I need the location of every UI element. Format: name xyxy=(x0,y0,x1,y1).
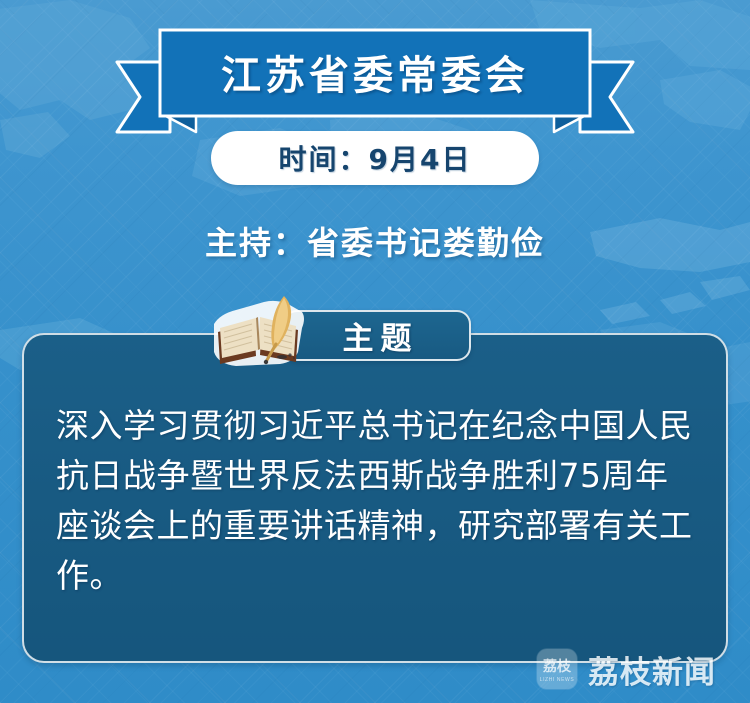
meeting-host-label: 主持：省委书记娄勤俭 xyxy=(0,218,750,264)
page-title: 江苏省委常委会 xyxy=(0,26,750,136)
brand-name-label: 荔枝新闻 xyxy=(588,647,716,692)
meeting-date-label: 时间：9月4日 xyxy=(279,138,472,178)
brand-logo: 荔枝 LIZHI NEWS 荔枝新闻 xyxy=(536,645,742,693)
open-book-with-quill-icon xyxy=(206,294,314,370)
meeting-date-pill: 时间：9月4日 xyxy=(211,131,539,185)
brand-mark-text: 荔枝 xyxy=(542,658,572,675)
poster-canvas: 江苏省委常委会 时间：9月4日 主持：省委书记娄勤俭 深入学习贯彻习近平总书记在… xyxy=(0,0,750,703)
brand-mark-subtext: LIZHI NEWS xyxy=(540,677,575,683)
theme-body-text: 深入学习贯彻习近平总书记在纪念中国人民抗日战争暨世界反法西斯战争胜利75周年座谈… xyxy=(56,401,696,601)
ribbon-banner: 江苏省委常委会 xyxy=(0,26,750,136)
lizhi-news-app-icon: 荔枝 LIZHI NEWS xyxy=(536,648,578,690)
theme-content-card: 深入学习贯彻习近平总书记在纪念中国人民抗日战争暨世界反法西斯战争胜利75周年座谈… xyxy=(22,333,728,663)
theme-tab-label: 主题 xyxy=(336,313,419,358)
